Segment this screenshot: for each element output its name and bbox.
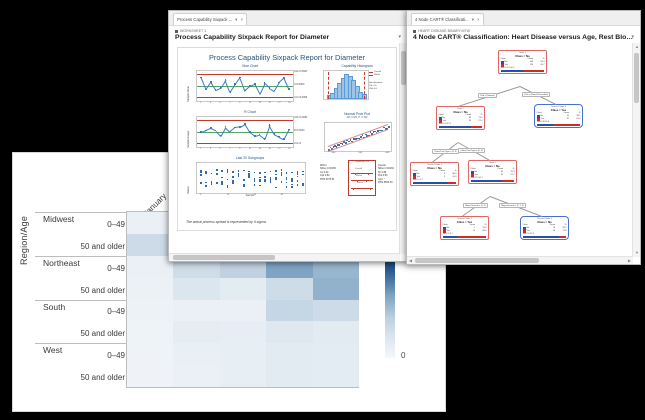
cart-node[interactable]: Terminal Node 1Class = NoClassCount%No88… [410, 162, 459, 186]
data-point [254, 180, 256, 182]
data-point [275, 187, 277, 189]
data-point [243, 170, 245, 172]
center-line [197, 86, 293, 87]
heatmap-cell[interactable] [127, 278, 173, 300]
heatmap-cell[interactable] [173, 278, 219, 300]
bar-segment-no [443, 236, 457, 238]
spec-table-row: USL 0.6 [369, 88, 383, 91]
heatmap-cell[interactable] [313, 365, 359, 387]
axis-tick: 5 [220, 148, 221, 150]
sixpack-titlebar[interactable]: Process Capability Sixpack ... ▾ × [169, 11, 407, 26]
cart-edge-label: Chest Pain Type = (0, 4) [458, 148, 484, 153]
cart-edge-label: Thal = (Normal) [478, 93, 497, 98]
data-point [221, 170, 223, 172]
data-point [216, 173, 218, 175]
data-point [221, 177, 223, 179]
capability-plot: Capability Plot Overall Within Specs [348, 160, 376, 196]
cart-edge-label: Thal = (Fixed, Reversible) [522, 92, 550, 97]
heatmap-row-sublabel: 50 and older [81, 242, 125, 251]
data-point [264, 172, 266, 174]
axis-tick: 17 [278, 148, 280, 150]
cart-class-count: 16 [544, 230, 555, 233]
control-limit-upper [197, 120, 293, 121]
cart-body: Node 1Class = NoClassCount%No15054.3Yes1… [407, 43, 640, 264]
cart-vscroll-thumb[interactable] [634, 53, 639, 103]
cart-node-distribution-bar [439, 126, 483, 128]
spec-limit-line [364, 72, 365, 99]
sixpack-footer-note: The actual process spread is represented… [186, 220, 267, 224]
data-point [216, 182, 218, 184]
spec-limit-line [328, 72, 329, 99]
r-plot-area: 135791113151719 [196, 116, 294, 148]
histogram-spec-table: SpecificationsLSL 0.5USL 0.6 [369, 82, 383, 91]
bar-segment-yes [559, 236, 567, 238]
data-point [281, 169, 283, 171]
within-stats-table: Within StDev 0.00165Cp 0.00Cpk 0.82PPM 6… [320, 164, 336, 181]
last20-y-label: Values [187, 186, 190, 194]
data-point [264, 176, 266, 178]
heatmap-row-group-label: Northeast [43, 258, 80, 268]
data-point [248, 177, 250, 179]
legend-label: Within [374, 74, 380, 77]
heatmap-cell[interactable] [313, 278, 359, 300]
cart-node[interactable]: Terminal Node 3Class = NoClassCount%No74… [520, 216, 569, 240]
cart-node-distribution-bar [413, 182, 457, 184]
cart-worksheet-label: HEART DISEASE BINARY.MTW [413, 29, 634, 33]
data-point [211, 184, 213, 186]
bar-segment-yes [524, 70, 544, 72]
data-point [227, 171, 229, 173]
data-point [227, 179, 229, 181]
data-point [302, 174, 304, 176]
axis-tick: 3 [210, 148, 211, 150]
last20-plot-area: 0102030 [196, 162, 306, 194]
bar-segment-no [501, 70, 525, 72]
bar-segment-no [537, 124, 554, 126]
histogram-plot-area [323, 70, 369, 100]
cart-collapse-icon[interactable]: ▾ [631, 34, 634, 40]
data-point [221, 183, 223, 185]
axis-tick: 15 [268, 102, 270, 104]
axis-tick: 19 [288, 102, 290, 104]
cart-node[interactable]: Node 2Class = NoClassCount%No8973.0Yes33… [436, 106, 485, 130]
data-point [297, 176, 299, 178]
heatmap-cell[interactable] [127, 343, 173, 365]
data-point [205, 171, 207, 173]
data-point [291, 180, 293, 182]
heatmap-cell[interactable] [313, 300, 359, 322]
heatmap-cell[interactable] [266, 321, 312, 343]
r-lcl-label: LCL=0 [294, 142, 301, 145]
heatmap-cell[interactable] [127, 365, 173, 387]
worksheet-icon [413, 30, 416, 33]
cart-class-count: 120 [522, 64, 533, 67]
heatmap-cell[interactable] [313, 321, 359, 343]
probplot-subtitle: AD: 0.331, P: 0.702 [322, 116, 392, 119]
sixpack-title: Process Capability Sixpack Report for Di… [175, 34, 401, 41]
xbar-chart-panel: Xbar Chart Sample Mean 135791113151719 U… [184, 64, 316, 106]
cart-edge-label: Chest Pain Type = (2, 3) [432, 149, 458, 154]
heatmap-cell[interactable] [266, 278, 312, 300]
cart-class-pct: 27.7 [503, 174, 514, 177]
connector-line [274, 83, 280, 92]
cart-node[interactable]: Node 3Class = NoClassCount%No8172.3Yes31… [468, 160, 517, 184]
r-chart-title: R Chart [184, 110, 316, 114]
xbar-chart-title: Xbar Chart [184, 64, 316, 68]
axis-tick: 13 [259, 148, 261, 150]
control-limit-upper [197, 74, 293, 75]
cart-edge-label: Major Vessels = (1, 2, 3) [499, 203, 525, 208]
data-point [291, 184, 293, 186]
cart-scroll-down-icon[interactable]: ▼ [635, 251, 639, 255]
data-point [259, 181, 261, 183]
sixpack-horizontal-scrollbar[interactable] [169, 253, 400, 261]
axis-tick: .500 [331, 152, 335, 154]
data-point [232, 171, 234, 173]
confidence-band-line [328, 129, 388, 152]
r-y-label: Sample Range [187, 131, 190, 148]
sixpack-tab-menu-icon[interactable]: ▾ [235, 17, 237, 23]
data-point [200, 171, 202, 173]
data-point [291, 186, 293, 188]
data-point [297, 184, 299, 186]
heatmap-cell[interactable] [173, 365, 219, 387]
data-point [302, 184, 304, 186]
bar-segment-yes [457, 236, 487, 238]
data-point [243, 185, 245, 187]
worksheet-icon [175, 30, 178, 33]
cart-class-pct: 27.0 [471, 120, 482, 123]
overall-stats-rows: StDev 0.00184Pp 0.88Ppk 0.80Cpm *PPM 656… [378, 167, 394, 184]
sixpack-body: Process Capability Sixpack Report for Di… [169, 43, 407, 261]
axis-tick: 7 [229, 148, 230, 150]
legend-swatch [369, 72, 373, 73]
cart-tab-label: 4 Node CART® Classificati... [415, 17, 469, 22]
heatmap-cell[interactable] [127, 234, 173, 256]
capplot-overall-label: Overall [355, 168, 362, 170]
data-point [200, 174, 202, 176]
heatmap-row-sublabel: 0–49 [107, 351, 125, 360]
axis-tick: 1 [200, 102, 201, 104]
center-line [197, 132, 293, 133]
heatmap-colorbar [385, 258, 395, 358]
heatmap-cell[interactable] [127, 256, 173, 278]
cart-vertical-scrollbar[interactable]: ▲ ▼ [632, 43, 640, 257]
bar-segment-no [439, 126, 471, 128]
heatmap-y-axis-title: Region/Age [19, 216, 29, 265]
cart-tab[interactable]: 4 Node CART® Classificati... ▾ × [411, 13, 484, 25]
bar-segment-yes [448, 182, 457, 184]
sixpack-tab[interactable]: Process Capability Sixpack ... ▾ × [173, 13, 247, 25]
cart-class-count: 15 [464, 230, 475, 233]
sixpack-tab-close-icon[interactable]: × [240, 17, 243, 22]
cart-hscroll-thumb[interactable] [415, 258, 539, 263]
data-point [281, 174, 283, 176]
axis-tick: 11 [249, 148, 251, 150]
axis-tick: 17 [278, 102, 280, 104]
legend-swatch [369, 75, 373, 76]
cart-classification-window[interactable]: 4 Node CART® Classificati... ▾ × HEART D… [406, 10, 641, 265]
data-point [238, 170, 240, 172]
data-point [221, 181, 223, 183]
within-stats-rows: StDev 0.00165Cp 0.00Cpk 0.82PPM 6075.61 [320, 167, 336, 181]
sixpack-header: WORKSHEET 1 Process Capability Sixpack R… [169, 26, 407, 43]
cart-titlebar[interactable]: 4 Node CART® Classificati... ▾ × [407, 11, 640, 26]
data-point [270, 171, 272, 173]
sixpack-tab-label: Process Capability Sixpack ... [177, 17, 232, 22]
xbar-center-label: X=0.6000 [294, 83, 304, 86]
data-point [281, 181, 283, 183]
xbar-ucl-label: UCL=0.9907 [294, 70, 308, 73]
heatmap-cell[interactable] [220, 300, 266, 322]
last20-title: Last 20 Subgroups [184, 156, 316, 160]
heatmap-row-group: Midwest0–4950 and older [35, 212, 127, 257]
capplot-specs-label: Specs [357, 182, 363, 184]
sixpack-report-card: Process Capability Sixpack Report for Di… [177, 47, 397, 231]
last20-x-label: Sample [196, 194, 304, 197]
data-point [216, 169, 218, 171]
heatmap-cell[interactable] [266, 343, 312, 365]
histogram-legend: OverallWithin [369, 71, 381, 77]
heatmap-row-sublabel: 0–49 [107, 264, 125, 273]
heatmap-cell[interactable] [220, 365, 266, 387]
bar-segment-no [413, 182, 448, 184]
axis-tick: .550 [358, 152, 362, 154]
histogram-title: Capability Histogram [322, 64, 392, 68]
cart-node[interactable]: Terminal Node 4Class = YesClassCount%No6… [534, 104, 583, 128]
data-point [205, 185, 207, 187]
cart-header: HEART DISEASE BINARY.MTW 4 Node CART® Cl… [407, 26, 640, 43]
control-limit-lower [197, 97, 293, 98]
bar-segment-yes [553, 124, 580, 126]
data-point [302, 171, 304, 173]
heatmap-row-group: West0–4950 and older [35, 343, 127, 388]
axis-tick: 9 [239, 102, 240, 104]
heatmap-row-sublabel: 50 and older [81, 373, 125, 382]
cart-class-count: 31 [492, 174, 503, 177]
capplot-line-overall [351, 173, 373, 174]
cart-class-pct: 45.7 [533, 64, 544, 67]
confidence-band-line [328, 124, 388, 147]
sixpack-report-title: Process Capability Sixpack Report for Di… [178, 53, 396, 62]
data-point [254, 172, 256, 174]
data-point [286, 172, 288, 174]
heatmap-cell[interactable] [266, 300, 312, 322]
capplot-within-label: Within [356, 175, 362, 177]
data-point [275, 178, 277, 180]
data-point [238, 173, 240, 175]
capplot-line-within [351, 180, 373, 181]
cart-class-pct: 61.9 [569, 118, 580, 121]
cart-node-distribution-bar [537, 124, 581, 126]
data-point [275, 170, 277, 172]
heatmap-cell[interactable] [127, 212, 173, 234]
axis-tick: 5 [220, 102, 221, 104]
histogram-legend-item: Within [369, 74, 381, 77]
data-point [388, 126, 390, 128]
cart-node[interactable]: Terminal Node 2Class = YesClassCount%No7… [440, 216, 489, 240]
heatmap-row-sublabel: 0–49 [107, 220, 125, 229]
heatmap-row-group-label: Midwest [43, 214, 74, 224]
data-point [286, 182, 288, 184]
heatmap-cell[interactable] [127, 321, 173, 343]
cart-class-count: 2 [434, 176, 445, 179]
heatmap-row-sublabel: 50 and older [81, 329, 125, 338]
data-point [205, 182, 207, 184]
heatmap-cell[interactable] [127, 300, 173, 322]
cart-tab-close-icon[interactable]: × [477, 17, 480, 22]
data-point [286, 178, 288, 180]
heatmap-row-sublabel: 50 and older [81, 286, 125, 295]
heatmap-row-group: South0–4950 and older [35, 300, 127, 345]
process-capability-window[interactable]: Process Capability Sixpack ... ▾ × WORKS… [168, 10, 408, 262]
xbar-lcl-label: LCL=0.0099 [294, 96, 307, 99]
r-chart-panel: R Chart Sample Range 135791113151719 UCL… [184, 110, 316, 152]
last20-panel: Last 20 Subgroups Values 0102030 Sample [184, 156, 316, 202]
sixpack-worksheet-name: WORKSHEET 1 [180, 29, 206, 33]
capability-histogram-panel: Capability Histogram OverallWithin Speci… [322, 64, 392, 108]
data-point [211, 173, 213, 175]
axis-tick: 3 [210, 102, 211, 104]
cart-node-distribution-bar [443, 236, 487, 238]
cart-node-distribution-bar [523, 236, 567, 238]
axis-tick: 7 [229, 102, 230, 104]
cart-tree-diagram[interactable]: Node 1Class = NoClassCount%No15054.3Yes1… [410, 46, 630, 254]
data-point [270, 180, 272, 182]
cart-scroll-left-icon[interactable]: ◀ [409, 259, 412, 263]
cart-horizontal-scrollbar[interactable]: ◀ ▶ [407, 256, 633, 264]
heatmap-legend-low-tick: 0 [401, 351, 405, 360]
axis-tick: .600 [385, 152, 389, 154]
heatmap-row-group-label: South [43, 302, 65, 312]
axis-tick: 15 [268, 148, 270, 150]
axis-tick: 1 [200, 148, 201, 150]
sixpack-collapse-icon[interactable]: ▾ [398, 34, 401, 40]
cart-class-count: 33 [460, 120, 471, 123]
sixpack-hscroll-thumb[interactable] [173, 255, 275, 260]
cart-node[interactable]: Node 1Class = NoClassCount%No15054.3Yes1… [498, 50, 547, 74]
normal-prob-plot-panel: Normal Prob Plot AD: 0.331, P: 0.702 .50… [322, 112, 392, 158]
bar-segment-yes [471, 126, 483, 128]
data-point [286, 186, 288, 188]
data-point [302, 183, 304, 185]
axis-tick: 11 [249, 102, 251, 104]
connector-line [284, 78, 290, 90]
data-point [238, 176, 240, 178]
heatmap-cell[interactable] [313, 343, 359, 365]
cart-class-pct: 17.8 [555, 230, 566, 233]
data-point [259, 177, 261, 179]
bar-segment-no [523, 236, 559, 238]
axis-tick: 13 [259, 102, 261, 104]
heatmap-cell[interactable] [220, 278, 266, 300]
heatmap-cell[interactable] [173, 321, 219, 343]
heatmap-cell[interactable] [220, 343, 266, 365]
stats-row: PPM 6075.61 [320, 178, 336, 181]
probplot-plot-area: .500.550.600 [324, 122, 392, 152]
heatmap-cell[interactable] [220, 321, 266, 343]
axis-tick: 9 [239, 148, 240, 150]
data-point [259, 185, 261, 187]
cart-class-pct: 20.0 [445, 176, 456, 179]
heatmap-row-sublabel: 0–49 [107, 307, 125, 316]
cart-scroll-right-icon[interactable]: ▶ [628, 259, 631, 263]
heatmap-cell[interactable] [173, 300, 219, 322]
axis-tick: 19 [288, 148, 290, 150]
cart-node-distribution-bar [501, 70, 545, 72]
data-point [254, 184, 256, 186]
sixpack-worksheet-label: WORKSHEET 1 [175, 29, 401, 33]
cart-node-distribution-bar [471, 180, 515, 182]
capplot-title: Capability Plot [349, 161, 375, 163]
data-point [275, 174, 277, 176]
r-center-label: R=0.0040 [294, 129, 304, 132]
xbar-y-label: Sample Mean [187, 86, 190, 102]
data-point [200, 182, 202, 184]
data-point [243, 184, 245, 186]
bar-segment-yes [502, 180, 514, 182]
overall-stats-table: Overall StDev 0.00184Pp 0.88Ppk 0.80Cpm … [378, 164, 394, 185]
cart-edge-label: Major Vessels = (2, 4) [463, 203, 487, 208]
xbar-plot-area: 135791113151719 [196, 70, 294, 102]
data-point [264, 179, 266, 181]
cart-worksheet-name: HEART DISEASE BINARY.MTW [418, 29, 470, 33]
cart-class-count: 87 [558, 118, 569, 121]
cart-title: 4 Node CART® Classification: Heart Disea… [413, 34, 634, 41]
data-point [291, 172, 293, 174]
control-limit-lower [197, 143, 293, 144]
data-point [232, 182, 234, 184]
heatmap-row-group: Northeast0–4950 and older [35, 256, 127, 301]
heatmap-row-group-label: West [43, 345, 62, 355]
cart-scroll-up-icon[interactable]: ▲ [635, 45, 639, 49]
data-point [211, 182, 213, 184]
capplot-line-specs [351, 188, 373, 189]
bar-segment-no [471, 180, 503, 182]
cart-class-pct: 68.2 [475, 230, 486, 233]
heatmap-cell[interactable] [266, 365, 312, 387]
data-point [232, 176, 234, 178]
stats-row: PPM 6566.53 [378, 181, 394, 184]
heatmap-bottom-axis-line [127, 387, 359, 388]
data-point [259, 179, 261, 181]
cart-tab-menu-icon[interactable]: ▾ [472, 17, 474, 23]
data-point [227, 187, 229, 189]
r-ucl-label: UCL=0.0087 [294, 116, 308, 119]
data-point [297, 180, 299, 182]
heatmap-cell[interactable] [173, 343, 219, 365]
data-point [243, 179, 245, 181]
data-point [259, 172, 261, 174]
